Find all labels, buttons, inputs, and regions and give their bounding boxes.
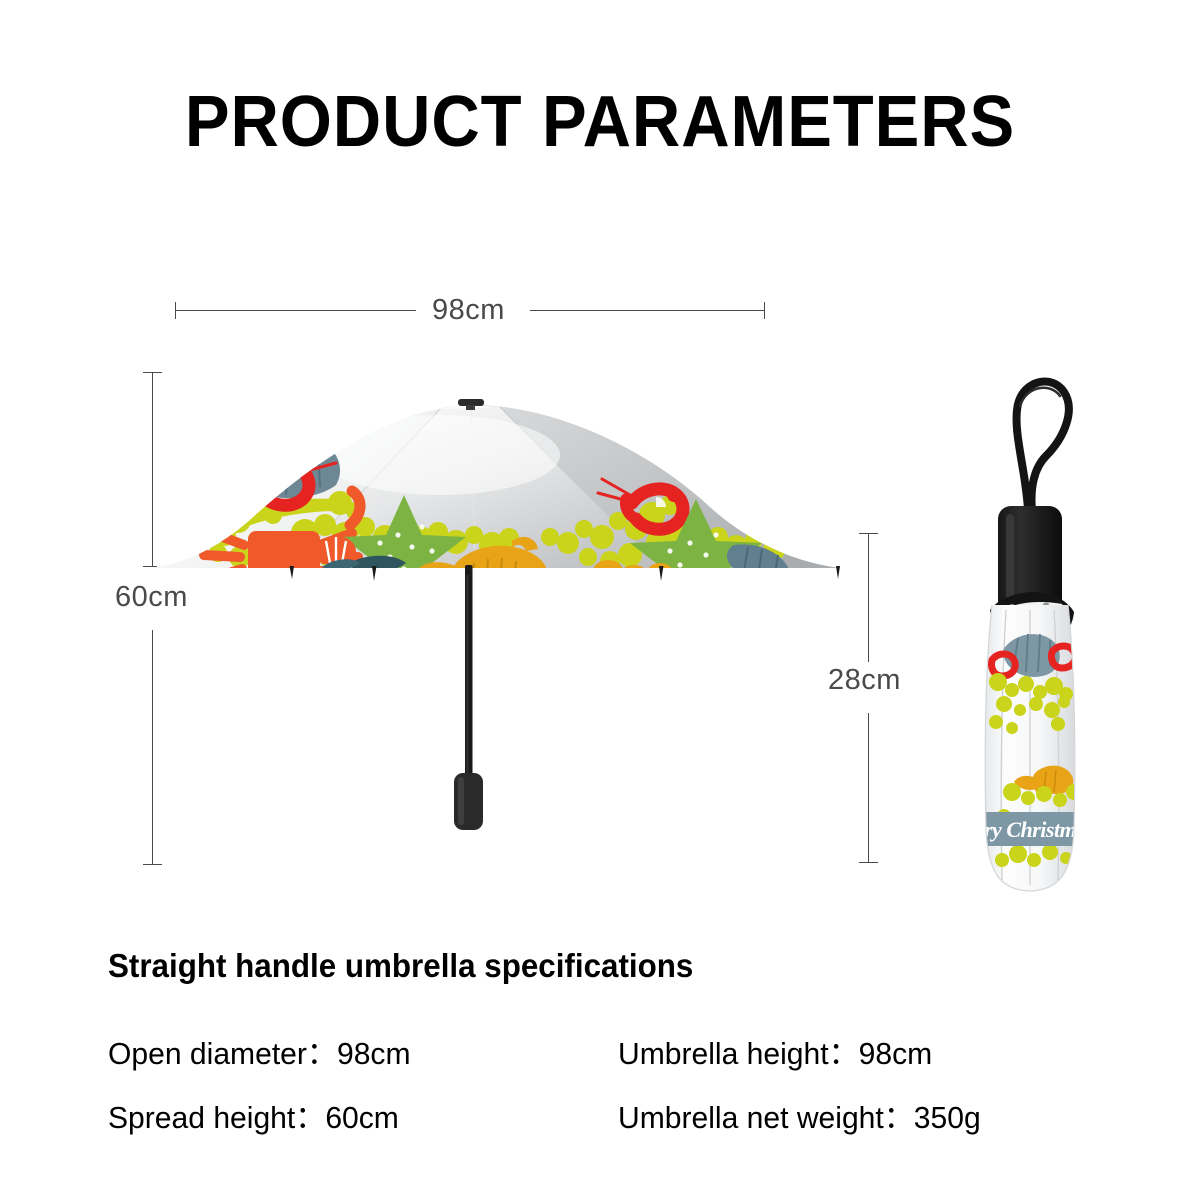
dim-cap-bottom — [859, 862, 878, 863]
dim-cap-right — [764, 302, 765, 319]
spec-spread-height: Spread height：60cm — [108, 1092, 399, 1137]
folded-fabric: ry Christm — [980, 605, 1084, 891]
folded-umbrella: ry Christm — [940, 360, 1120, 905]
dim-line-right-segment — [530, 310, 764, 311]
christmas-banner: ry Christm — [980, 812, 1084, 846]
dim-line-upper-segment — [868, 534, 869, 662]
wrist-strap — [1017, 382, 1069, 510]
page-title: PRODUCT PARAMETERS — [42, 86, 1158, 158]
shaft-and-handle — [454, 565, 483, 830]
dim-cap-bottom — [143, 864, 162, 865]
rib-tips — [290, 566, 841, 581]
spec-open-diameter: Open diameter：98cm — [108, 1028, 411, 1073]
spec-umbrella-height: Umbrella height：98cm — [618, 1028, 932, 1073]
dim-line-lower-segment — [868, 713, 869, 862]
banner-text: ry Christm — [984, 817, 1077, 842]
open-umbrella — [140, 395, 850, 835]
spec-umbrella-net-weight: Umbrella net weight：350g — [618, 1092, 981, 1137]
specs-heading: Straight handle umbrella specifications — [108, 947, 693, 985]
product-parameters-page: PRODUCT PARAMETERS 98cm 60cm 28cm — [0, 0, 1200, 1200]
dim-line-left-segment — [176, 310, 416, 311]
dimension-label-open-diameter: 98cm — [432, 294, 505, 327]
